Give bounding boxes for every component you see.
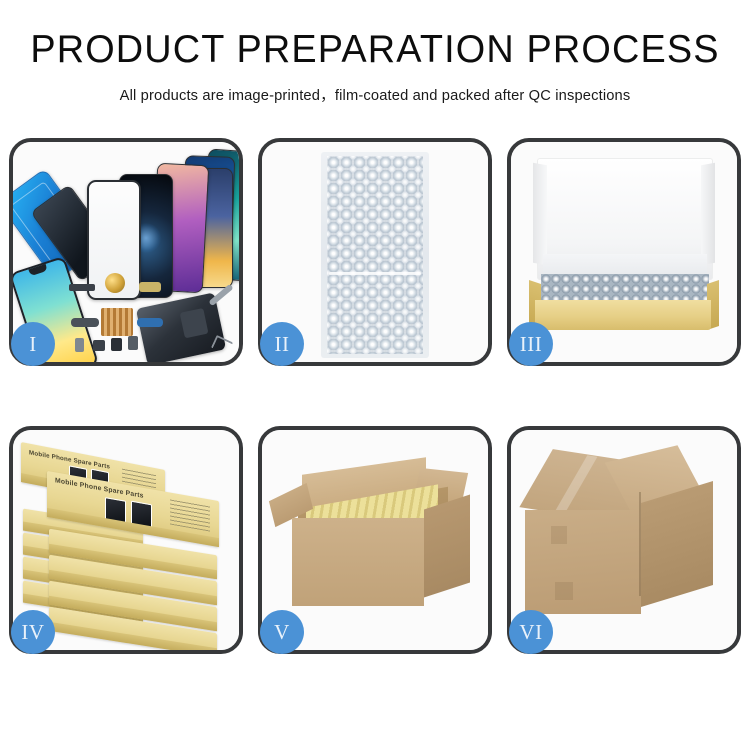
step-badge-2: II	[260, 322, 304, 366]
step-badge-5: V	[260, 610, 304, 654]
sealed-carton-patch-bottom-icon	[555, 582, 573, 600]
box-lid-right-flap-icon	[701, 163, 715, 265]
box-kraft-front-icon	[535, 300, 711, 330]
step-card-6: VI	[507, 426, 741, 654]
part-small-3-icon	[111, 338, 122, 351]
page-title: PRODUCT PREPARATION PROCESS	[11, 30, 739, 71]
sealed-carton-front-face-icon	[525, 510, 641, 614]
part-small-4-icon	[128, 336, 138, 350]
part-blue-flex-cable-icon	[137, 318, 163, 327]
step-card-2: II	[258, 138, 492, 366]
part-screws-icon	[211, 335, 233, 355]
part-gold-bar-icon	[139, 282, 161, 292]
bubble-wrap-seam-icon	[329, 272, 421, 275]
sealed-carton-patch-top-icon	[551, 526, 567, 544]
step-badge-1: I	[11, 322, 55, 366]
part-small-2-icon	[93, 340, 105, 351]
step-card-1: I	[9, 138, 243, 366]
step-badge-3: III	[509, 322, 553, 366]
part-speaker-icon	[105, 273, 125, 293]
step-badge-4: IV	[11, 610, 55, 654]
header: PRODUCT PREPARATION PROCESS All products…	[0, 0, 750, 105]
step-card-4: Mobile Phone Spare Parts Mobile Phone Sp…	[9, 426, 243, 654]
step-card-3: III	[507, 138, 741, 366]
sealed-carton-side-face-icon	[641, 481, 713, 607]
bubble-wrap-bubbles-offset-icon	[327, 156, 423, 354]
step-badge-6: VI	[509, 610, 553, 654]
part-bar-icon	[69, 284, 95, 291]
step-card-5: V	[258, 426, 492, 654]
process-steps-grid: I II	[9, 138, 741, 654]
carton-front-face-icon	[292, 518, 424, 606]
sealed-carton-edge-seam-icon	[639, 492, 641, 596]
part-small-1-icon	[75, 338, 84, 352]
part-chip-grid-icon	[101, 308, 133, 336]
carton-right-side-icon	[424, 495, 470, 598]
page-subtitle: All products are image-printed，film-coat…	[0, 84, 750, 105]
bubble-wrap-sheet-icon	[321, 152, 429, 358]
retail-box-spec-lines-front	[170, 499, 210, 532]
box-lid-left-flap-icon	[533, 163, 547, 265]
part-flex-cable-icon	[71, 318, 99, 327]
